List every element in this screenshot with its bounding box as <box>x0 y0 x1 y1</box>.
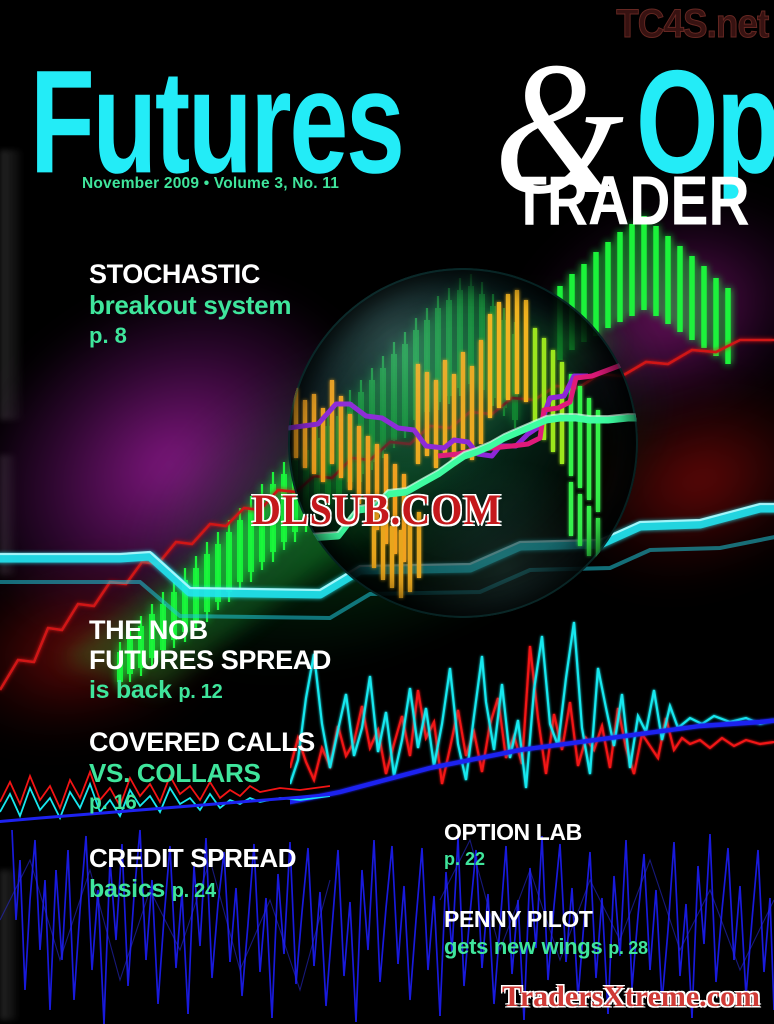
covered-calls-subhead: VS. COLLARS <box>89 758 315 789</box>
title-futures: Futures <box>30 48 403 195</box>
watermark-tc4s: TC4S.net <box>616 2 768 47</box>
nob-headline-line1: THE NOB <box>89 615 331 645</box>
lower-oscillator-chart <box>290 598 774 828</box>
nob-headline-line2: FUTURES SPREAD <box>89 645 331 675</box>
credit-spread-page: p. 24 <box>172 880 216 902</box>
cover-line-stochastic[interactable]: STOCHASTIC breakout system p. 8 <box>89 258 291 351</box>
issue-date-line: November 2009 • Volume 3, No. 11 <box>82 175 339 193</box>
oscillator-blue-ma <box>290 720 774 804</box>
penny-pilot-headline: PENNY PILOT <box>444 905 648 933</box>
oscillator-cyan-line <box>290 622 774 788</box>
nob-subhead-text: is back <box>89 676 172 704</box>
penny-pilot-subhead-text: gets new wings <box>444 934 602 959</box>
stochastic-page: p. 8 <box>89 323 127 348</box>
cover-line-nob-futures-spread[interactable]: THE NOB FUTURES SPREAD is back p. 12 <box>89 615 331 708</box>
cover-line-penny-pilot[interactable]: PENNY PILOT gets new wings p. 28 <box>444 905 648 962</box>
penny-pilot-subhead: gets new wings p. 28 <box>444 933 648 962</box>
nob-subhead: is back p. 12 <box>89 675 331 708</box>
option-lab-headline: OPTION LAB <box>444 818 582 846</box>
globe-sphere <box>288 268 638 618</box>
cover-line-credit-spread[interactable]: CREDIT SPREAD basics p. 24 <box>89 843 296 907</box>
sphere-chart-svg <box>288 268 638 618</box>
covered-calls-page: p. 16 <box>89 791 137 814</box>
option-lab-page: p. 22 <box>444 849 485 869</box>
penny-pilot-page: p. 28 <box>608 938 648 958</box>
credit-spread-subhead-text: basics <box>89 875 165 903</box>
nob-page: p. 12 <box>178 681 222 703</box>
title-trader: TRADER <box>512 162 750 242</box>
grey-slab-mid <box>0 455 16 575</box>
magazine-cover: Futures&Options TRADER November 2009 • V… <box>0 0 774 1024</box>
cover-line-covered-calls[interactable]: COVERED CALLS VS. COLLARS p. 16 <box>89 727 315 817</box>
credit-spread-subhead: basics p. 24 <box>89 874 296 907</box>
watermark-dlsub: DLSUB.COM <box>252 484 502 535</box>
sphere-green-candles-2 <box>571 374 598 564</box>
stochastic-subhead: breakout system <box>89 290 291 321</box>
credit-spread-headline: CREDIT SPREAD <box>89 843 296 874</box>
grey-slab-upper <box>0 150 22 420</box>
watermark-tradersxtreme: TradersXtreme.com <box>502 980 760 1014</box>
cover-line-option-lab[interactable]: OPTION LAB p. 22 <box>444 818 582 872</box>
covered-calls-headline: COVERED CALLS <box>89 727 315 758</box>
stochastic-headline: STOCHASTIC <box>89 258 291 290</box>
